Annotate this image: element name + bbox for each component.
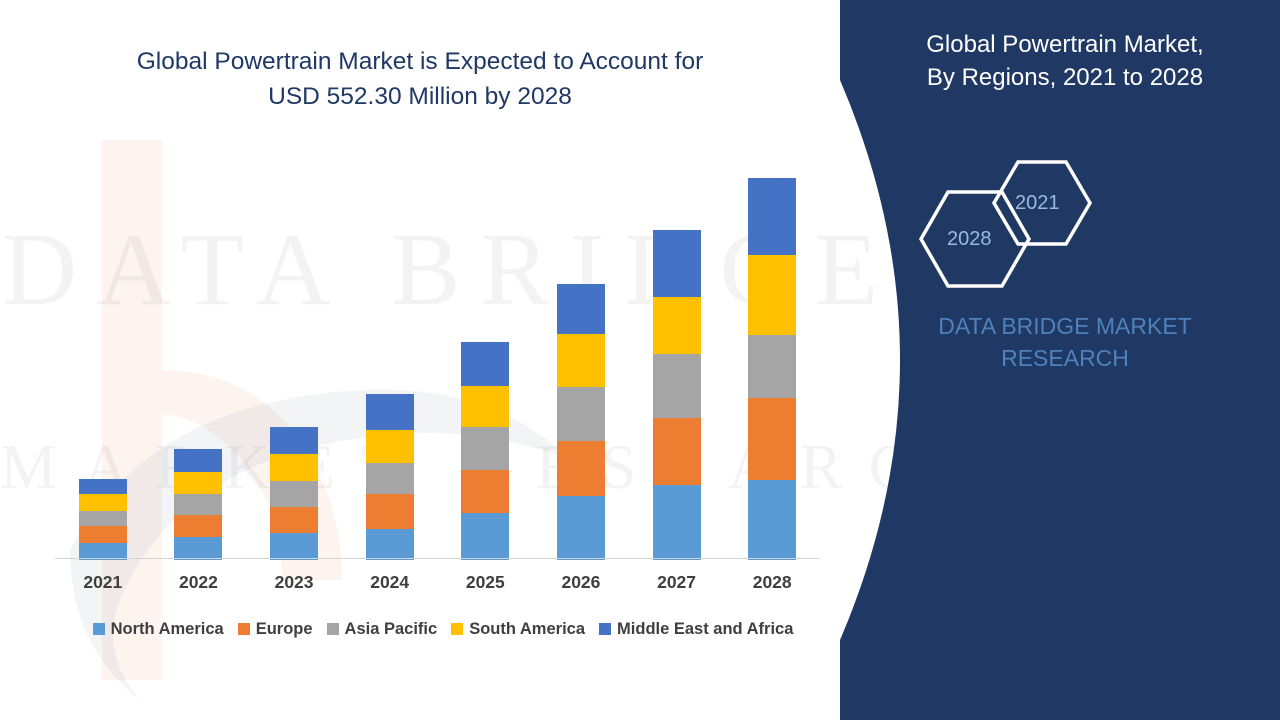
stacked-bar[interactable]	[79, 479, 127, 560]
bar-segment[interactable]	[366, 430, 414, 463]
x-axis-label-2024: 2024	[345, 572, 435, 593]
x-axis-label-2026: 2026	[536, 572, 626, 593]
bar-segment[interactable]	[748, 480, 796, 560]
bar-segment[interactable]	[557, 284, 605, 333]
bar-segment[interactable]	[461, 386, 509, 427]
bar-segment[interactable]	[653, 418, 701, 486]
hexagon-right-label: 2021	[1015, 192, 1060, 215]
chart-title: Global Powertrain Market is Expected to …	[60, 44, 780, 114]
bar-segment[interactable]	[366, 394, 414, 430]
bar-segment[interactable]	[79, 526, 127, 542]
legend-label: Europe	[256, 620, 313, 639]
bar-segment[interactable]	[557, 387, 605, 441]
bar-segment[interactable]	[557, 496, 605, 560]
x-axis-label-2023: 2023	[249, 572, 339, 593]
legend-swatch-icon	[93, 623, 105, 635]
bar-segment[interactable]	[270, 533, 318, 560]
stacked-bar[interactable]	[174, 449, 222, 560]
bar-segment[interactable]	[653, 485, 701, 560]
legend-label: North America	[111, 620, 224, 639]
stacked-bar[interactable]	[366, 394, 414, 560]
brand-panel: Global Powertrain Market, By Regions, 20…	[840, 0, 1280, 720]
brand-subtitle-line-2: RESEARCH	[880, 342, 1250, 374]
bar-segment[interactable]	[366, 494, 414, 529]
bar-segment[interactable]	[748, 178, 796, 255]
bar-segment[interactable]	[174, 449, 222, 472]
bar-segment[interactable]	[270, 481, 318, 507]
bar-segment[interactable]	[174, 472, 222, 495]
bar-segment[interactable]	[748, 398, 796, 480]
bar-segment[interactable]	[461, 513, 509, 560]
bar-segment[interactable]	[653, 354, 701, 418]
bar-segment[interactable]	[174, 515, 222, 538]
stacked-bar[interactable]	[653, 230, 701, 560]
stacked-bar[interactable]	[748, 178, 796, 560]
bar-segment[interactable]	[748, 255, 796, 335]
bar-segment[interactable]	[461, 470, 509, 513]
brand-title-line-1: Global Powertrain Market,	[880, 28, 1250, 61]
brand-title: Global Powertrain Market, By Regions, 20…	[880, 28, 1250, 94]
bar-segment[interactable]	[653, 297, 701, 354]
bar-segment[interactable]	[557, 441, 605, 496]
chart-title-line-1: Global Powertrain Market is Expected to …	[60, 44, 780, 79]
x-axis-label-2028: 2028	[727, 572, 817, 593]
brand-subtitle-line-1: DATA BRIDGE MARKET	[880, 310, 1250, 342]
legend-item[interactable]: South America	[451, 620, 585, 639]
x-axis-label-2025: 2025	[440, 572, 530, 593]
x-axis-label-2027: 2027	[632, 572, 722, 593]
bar-segment[interactable]	[461, 427, 509, 470]
bar-segment[interactable]	[748, 335, 796, 399]
legend-swatch-icon	[327, 623, 339, 635]
bar-segment[interactable]	[79, 479, 127, 494]
x-axis-line	[55, 558, 820, 559]
hexagon-left-label: 2028	[947, 228, 992, 251]
stacked-bar[interactable]	[270, 427, 318, 560]
legend-label: Middle East and Africa	[617, 620, 793, 639]
hexagon-outlines	[910, 150, 1160, 290]
bar-segment[interactable]	[270, 507, 318, 534]
bar-segment[interactable]	[270, 427, 318, 455]
chart-panel: DATA BRIDGE MARKET RESEARCH Global Power…	[0, 0, 900, 720]
bar-segment[interactable]	[461, 342, 509, 386]
legend-label: South America	[469, 620, 585, 639]
bar-segment[interactable]	[270, 454, 318, 481]
brand-subtitle: DATA BRIDGE MARKET RESEARCH	[880, 310, 1250, 374]
legend-item[interactable]: Asia Pacific	[327, 620, 438, 639]
bar-segment[interactable]	[79, 511, 127, 526]
legend-label: Asia Pacific	[345, 620, 438, 639]
bar-segment[interactable]	[557, 334, 605, 387]
brand-title-line-2: By Regions, 2021 to 2028	[880, 61, 1250, 94]
x-axis-label-2021: 2021	[58, 572, 148, 593]
legend-swatch-icon	[238, 623, 250, 635]
legend-item[interactable]: Middle East and Africa	[599, 620, 793, 639]
chart-title-line-2: USD 552.30 Million by 2028	[60, 79, 780, 114]
stacked-bar-plot-area	[55, 150, 820, 560]
bar-segment[interactable]	[366, 529, 414, 560]
x-axis-labels: 20212022202320242025202620272028	[55, 572, 820, 602]
stacked-bar[interactable]	[461, 342, 509, 560]
bar-segment[interactable]	[79, 494, 127, 510]
bar-segment[interactable]	[653, 230, 701, 297]
x-axis-label-2022: 2022	[153, 572, 243, 593]
legend-item[interactable]: Europe	[238, 620, 313, 639]
stacked-bar[interactable]	[557, 284, 605, 560]
legend-swatch-icon	[451, 623, 463, 635]
legend-item[interactable]: North America	[93, 620, 224, 639]
hexagon-year-badges: 2021 2028	[910, 150, 1160, 290]
legend-swatch-icon	[599, 623, 611, 635]
bar-segment[interactable]	[174, 494, 222, 515]
bar-segment[interactable]	[174, 537, 222, 560]
bar-segment[interactable]	[366, 463, 414, 495]
chart-legend: North AmericaEuropeAsia PacificSouth Ame…	[55, 616, 845, 642]
